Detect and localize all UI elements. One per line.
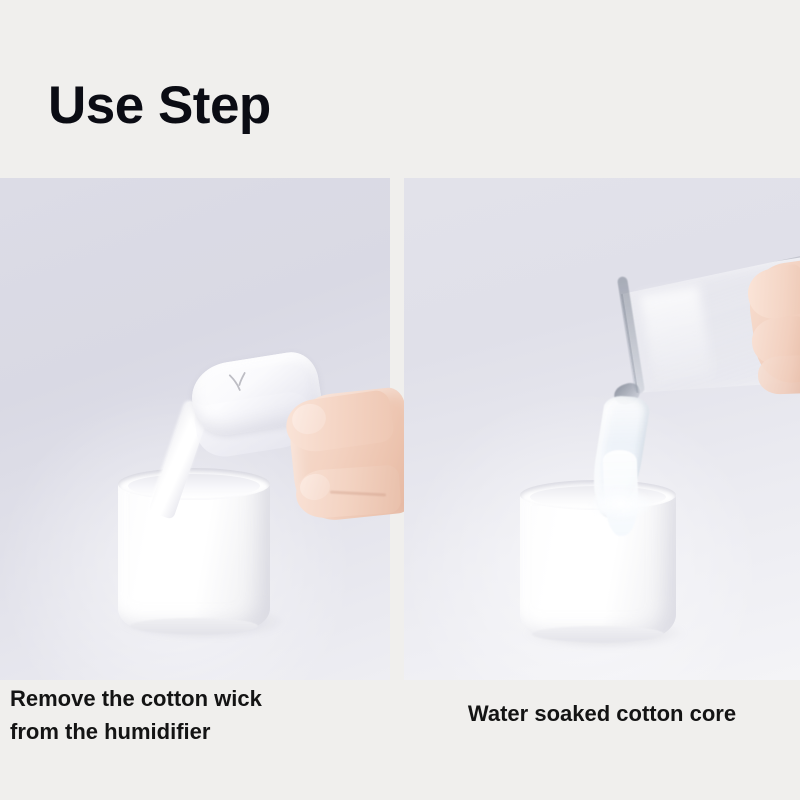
step-2-caption: Water soaked cotton core (404, 697, 800, 730)
step-2-finger-lower (757, 355, 800, 395)
step-1-humidifier-base-cup (118, 478, 270, 630)
step-2-water-splash (588, 486, 654, 522)
step-1-caption: Remove the cotton wick from the humidifi… (10, 682, 262, 748)
step-2-cup-foot (532, 626, 664, 642)
brand-logo-icon (227, 370, 252, 393)
page-title: Use Step (48, 78, 271, 134)
page-root: Use Step Remove the cotton (0, 0, 800, 800)
step-1-cup-foot (130, 618, 258, 634)
step-1-cup-inner-cavity (128, 474, 260, 498)
